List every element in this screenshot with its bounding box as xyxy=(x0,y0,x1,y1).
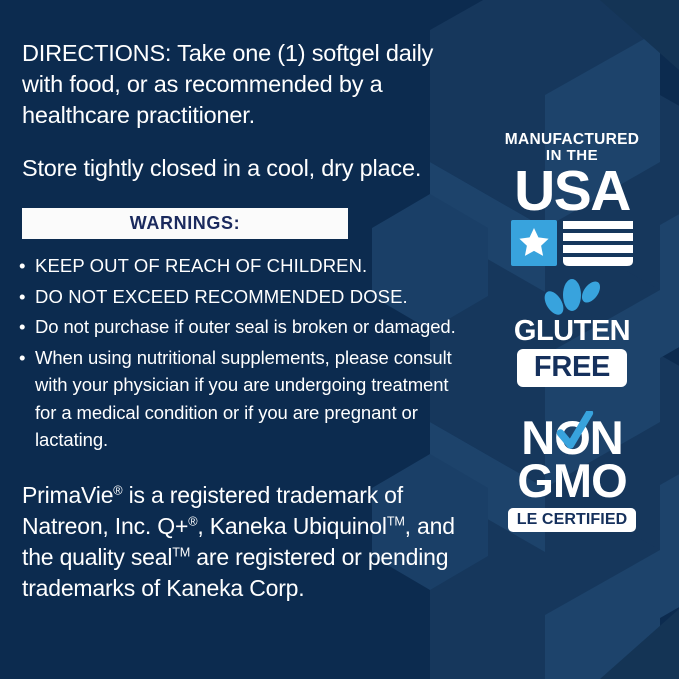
warnings-list: • KEEP OUT OF REACH OF CHILDREN. • DO NO… xyxy=(18,252,474,454)
registered-mark-2: ® xyxy=(188,514,197,528)
warning-item-2: • DO NOT EXCEED RECOMMENDED DOSE. xyxy=(18,283,474,311)
badge-gluten-free: GLUTEN FREE xyxy=(483,278,661,387)
warning-item-3: • Do not purchase if outer seal is broke… xyxy=(18,313,474,341)
storage-paragraph: Store tightly closed in a cool, dry plac… xyxy=(22,153,474,184)
badge-non-gmo: NON GMO LE CERTIFIED xyxy=(483,415,661,532)
non-gmo-line-1: NON xyxy=(521,411,622,464)
bullet-icon: • xyxy=(19,252,26,280)
gluten-free-line-1: GLUTEN xyxy=(483,316,661,347)
wheat-leaves-icon xyxy=(538,278,606,318)
non-gmo-line-2: GMO xyxy=(483,458,661,504)
bullet-icon: • xyxy=(19,313,25,341)
warning-item-text: Do not purchase if outer seal is broken … xyxy=(35,316,456,337)
warning-item-text: KEEP OUT OF REACH OF CHILDREN. xyxy=(35,255,367,276)
supplement-label-panel: DIRECTIONS: Take one (1) softgel daily w… xyxy=(0,0,679,679)
bullet-icon: • xyxy=(19,283,26,311)
badge-manufactured-in-usa: MANUFACTURED IN THE USA xyxy=(483,132,661,268)
certification-badges-column: MANUFACTURED IN THE USA xyxy=(469,0,679,679)
warnings-heading-label: WARNINGS: xyxy=(130,213,240,234)
usa-badge-title: USA xyxy=(483,165,661,217)
usa-line-1: MANUFACTURED xyxy=(505,131,639,148)
directions-paragraph: DIRECTIONS: Take one (1) softgel daily w… xyxy=(22,38,474,131)
label-text-column: DIRECTIONS: Take one (1) softgel daily w… xyxy=(22,38,474,627)
warning-item-text: DO NOT EXCEED RECOMMENDED DOSE. xyxy=(35,286,408,307)
usa-flag-icon xyxy=(511,220,633,268)
bullet-icon: • xyxy=(19,344,25,372)
trademark-text-3: , Kaneka Ubiquinol xyxy=(197,513,386,539)
trademark-paragraph: PrimaVie® is a registered trademark of N… xyxy=(22,480,474,604)
non-gmo-line-1-wrapper: NON xyxy=(521,415,622,460)
tm-mark-2: TM xyxy=(172,545,190,559)
gluten-free-line-2: FREE xyxy=(517,349,627,387)
warning-item-text: When using nutritional supplements, plea… xyxy=(35,347,452,451)
tm-mark-1: TM xyxy=(387,514,405,528)
warnings-heading-box: WARNINGS: xyxy=(22,208,348,239)
warning-item-1: • KEEP OUT OF REACH OF CHILDREN. xyxy=(18,252,474,280)
trademark-primavie: PrimaVie xyxy=(22,482,113,508)
non-gmo-certified-badge: LE CERTIFIED xyxy=(508,508,637,532)
warning-item-4: • When using nutritional supplements, pl… xyxy=(18,344,474,454)
